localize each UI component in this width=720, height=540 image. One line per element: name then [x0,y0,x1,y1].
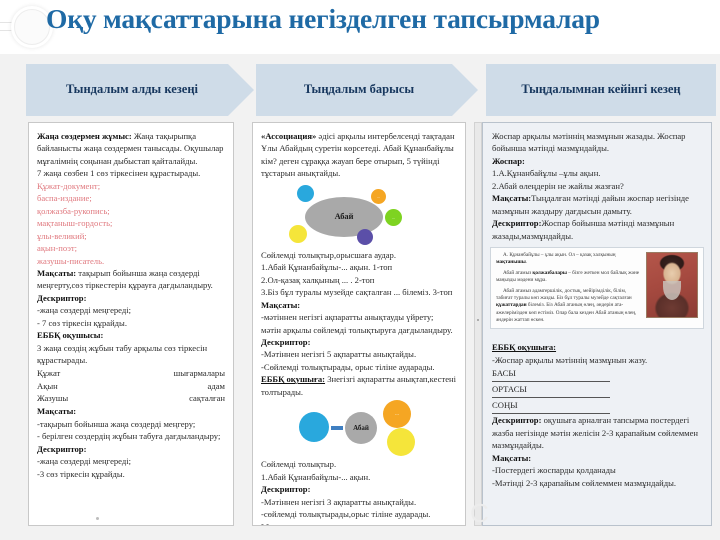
goal2-item: - берілген сөздердің жұбын табуға дағдыл… [37,430,225,442]
pair-right: адам [208,380,225,393]
goal-block: Мақсаты: тақырып бойынша жаңа сөздерді м… [37,267,225,292]
word-item: ұлы-великий; [37,230,225,242]
column-during-listening: «Ассоциация» әдісі арқылы интербелсенді … [252,122,466,526]
goal-block: Мақсаты:Тыңдалған мәтінді дайын жоспар н… [492,192,702,217]
word-item: мақтаныш-гордость; [37,217,225,229]
cluster-node-purple [357,229,373,245]
blank-label: БАСЫ [492,366,610,382]
ebbk-text: -Жоспар арқылы мәтіннің мазмұнын жазу. [492,354,702,366]
task1-title: Сөйлемді толықтыр,орысшаға аудар. [261,249,457,261]
stage-header-pre-listening: Тындалым алды кезеңі [26,64,254,116]
table-row: Ақын адам [37,380,225,393]
cluster2-node-yellow [387,428,415,456]
goal2-label: Мақсаты: [37,405,225,417]
ebbk-label: ЕББҚ оқушыға: [261,374,325,384]
goal2-item: -Мәтінді 2-3 қарапайым сөйлеммен мазмұнд… [492,477,702,489]
new-words-label: Жаңа сөздермен жұмыс: [37,131,132,141]
method-label: «Ассоциация» [261,131,316,141]
poster-p1a: А. Құнанбайұлы – ұлы ақын. Ол – қазақ ха… [503,252,615,258]
slide-title-bar: Оқу мақсаттарына негізделген тапсырмалар [0,0,720,54]
decorative-dot [96,517,99,520]
goal-label: Мақсаты: [261,299,457,311]
blank-label: ОРТАСЫ [492,382,610,398]
plan-item: 2.Абай өлеңдерін не жайлы жазған? [492,180,702,192]
column-post-listening: Жоспар арқылы мәтіннің мазмұнын жазады. … [482,122,712,526]
descriptor-item: - 7 сөз тіркесін құрайды. [37,317,225,329]
pair-left: Жазушы [37,392,68,405]
descriptor2-block: Дескриптор: оқушыға арналған тапсырма по… [492,414,702,451]
pair-right: шығармалары [174,367,225,380]
poster-paragraph: Абай атамыз қолжазбалары – бізге жеткен … [496,270,642,285]
blank-label: СОҢЫ [492,398,610,414]
poster-p3a: Абай атамыз адамгершілік, достық, мейірі… [496,288,632,301]
association-method: «Ассоциация» әдісі арқылы интербелсенді … [261,130,457,180]
descriptor-block: Дескриптор:Жоспар бойынша мәтінді мазмұн… [492,217,702,242]
blank-row: ОРТАСЫ [492,382,702,398]
simple-cluster-diagram: Абай ... [261,400,457,456]
cluster-center-node: Абай [305,197,383,237]
cluster-node-green: ... [385,209,402,226]
task1-item: 2.Ол-қазақ халқының ... . 2-топ [261,274,457,286]
cluster-node-cyan [297,185,314,202]
descriptor2-label: Дескриптор: [261,483,457,495]
ebbk-label: ЕББҚ оқушыға: [492,341,702,353]
goal-item: мәтін арқылы сөйлемді толықтыруға дағдыл… [261,324,457,336]
goal-label: Мақсаты: [492,193,531,203]
poster-card: А. Құнанбайұлы – ұлы ақын. Ол – қазақ ха… [490,247,704,329]
cluster2-center-node: Абай [345,412,377,444]
poster-p3b: құжаттардан [496,302,527,308]
abai-portrait-image [646,252,698,318]
blank-row: БАСЫ [492,366,702,382]
table-row: Жазушы сақталған [37,392,225,405]
cluster-node-orange: ... [371,189,386,204]
word-item: баспа-издание; [37,192,225,204]
column-scrollbar[interactable] [474,122,482,526]
descriptor-item: -жаңа сөздерді меңгереді; [37,304,225,316]
plan-label: Жоспар: [492,155,702,167]
pair-right: сақталған [189,392,225,405]
cluster2-node-orange: ... [383,400,411,428]
descriptor2-label: Дескриптор: [492,415,541,425]
descriptor2-item: -жаңа сөздерді меңгереді; [37,455,225,467]
goal-item: -мәтіннен негізгі ақпаратты анықтауды үй… [261,311,457,323]
cluster-node-yellow [289,225,307,243]
goal-label: Мақсаты: [37,268,76,278]
poster-paragraph: Абай атамыз адамгершілік, достық, мейірі… [496,288,642,325]
title-ring-icon [14,9,50,45]
descriptor2-label: Дескриптор: [37,443,225,455]
goal2-label: Мақсаты: [261,521,457,526]
post-intro: Жоспар арқылы мәтіннің мазмұнын жазады. … [492,130,702,155]
seven-words-line: 7 жаңа сөзбен 1 сөз тіркесінен құрастыра… [37,167,225,179]
descriptor-label: Дескриптор: [37,292,225,304]
goal2-label: Мақсаты: [492,452,702,464]
stage-header-during-listening: Тыңдалым барысы [256,64,478,116]
fill-in-blanks: БАСЫ ОРТАСЫ СОҢЫ [492,366,702,414]
task2-title: Сөйлемді толықтыр. [261,458,457,470]
goal2-item: -тақырып бойынша жаңа сөздерді меңгеру; [37,418,225,430]
watermark: C [470,498,489,529]
word-item: қолжазба-рукопись; [37,205,225,217]
task2-item: 1.Абай Құнанбайұлы-... ақын. [261,471,457,483]
task1-item: 1.Абай Құнанбайұлы-... ақын. 1-топ [261,261,457,273]
descriptor-label: Дескриптор: [492,218,541,228]
cluster2-arrow-icon [331,426,343,430]
goal2-item: -Постердегі жоспарды қолданады [492,464,702,476]
table-row: Құжат шығармалары [37,367,225,380]
descriptor2-item: -сөйлемді толықтырады,орыс тіліне аудара… [261,508,457,520]
ebbk-text: 3 жаңа сөздің жұбын табу арқылы сөз тірк… [37,342,225,367]
poster-p1b: мақтанышы [496,259,526,265]
poster-paragraph: А. Құнанбайұлы – ұлы ақын. Ол – қазақ ха… [496,252,642,267]
blank-row: СОҢЫ [492,398,702,414]
descriptor2-item: -3 сөз тіркесін құрайды. [37,468,225,480]
descriptor-item: -Мәтіннен негізгі 5 ақпаратты анықтайды. [261,348,457,360]
poster-p2a: Абай атамыз [503,270,532,276]
new-words-intro: Жаңа сөздермен жұмыс: Жаңа тақырыпқа бай… [37,130,225,167]
plan-item: 1.А.Құнанбайұлы –ұлы ақын. [492,167,702,179]
word-item: жазушы-писатель. [37,255,225,267]
descriptor-label: Дескриптор: [261,336,457,348]
poster-p2b: қолжазбалары [532,270,567,276]
poster-p1c: . [526,259,527,265]
ebbk-label: ЕББҚ оқушысы: [37,329,225,341]
word-pair-list: Құжат-документ; баспа-издание; қолжазба-… [37,180,225,267]
word-item: ақын-поэт; [37,242,225,254]
page-title: Оқу мақсаттарына негізделген тапсырмалар [46,3,714,35]
cluster2-node-blue [299,412,329,442]
association-cluster-diagram: Абай ... ... [261,183,457,247]
descriptor2-item: -Мәтіннен негізгі 3 ақпаратты анықтайды. [261,496,457,508]
stage-header-post-listening: Тыңдалымнан кейінгі кезең [486,64,716,116]
pair-left: Ақын [37,380,58,393]
poster-text: А. Құнанбайұлы – ұлы ақын. Ол – қазақ ха… [496,252,642,324]
task1-item: 3.Біз бұл туралы музейде сақталған ... б… [261,286,457,298]
ebbk-block: ЕББҚ оқушыға: 3негізгі ақпаратты анықтап… [261,373,457,398]
descriptor-item: -Сөйлемді толықтырады, орыс тіліне аудар… [261,361,457,373]
pair-left: Құжат [37,367,60,380]
column-pre-listening: Жаңа сөздермен жұмыс: Жаңа тақырыпқа бай… [28,122,234,526]
word-item: Құжат-документ; [37,180,225,192]
